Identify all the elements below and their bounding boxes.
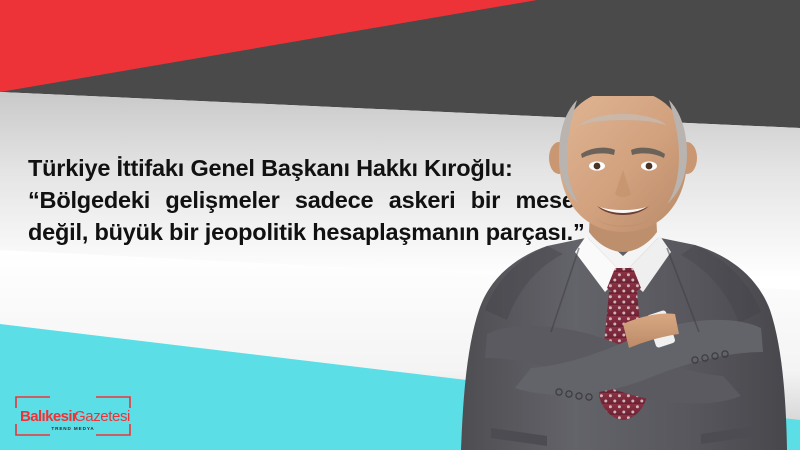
portrait-photo	[455, 96, 800, 450]
logo-word-bold: Balıkesir	[20, 408, 78, 425]
site-logo[interactable]: Balıkesir Gazetesi TREND MEDYA	[14, 395, 132, 437]
logo-word-light: Gazetesi	[74, 408, 130, 425]
logo-tagline: TREND MEDYA	[51, 426, 94, 431]
head	[549, 96, 697, 232]
news-quote-card: Türkiye İttifakı Genel Başkanı Hakkı Kır…	[0, 0, 800, 450]
